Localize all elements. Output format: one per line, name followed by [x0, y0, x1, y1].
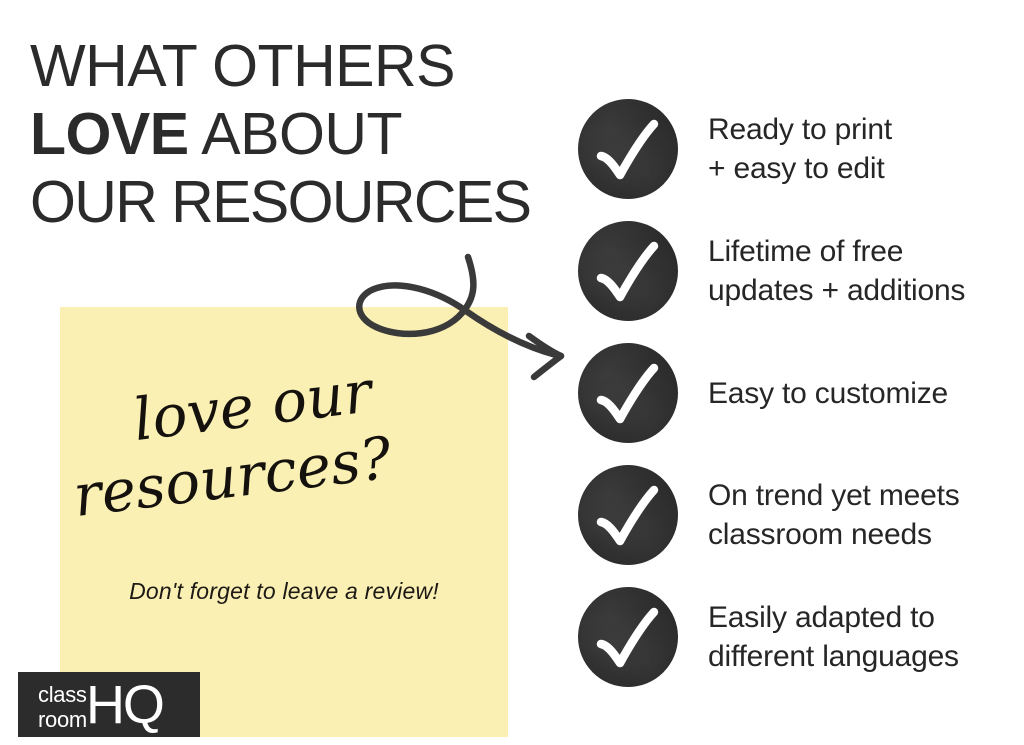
list-item-line-1: On trend yet meets [708, 476, 960, 515]
checkmark-icon [578, 99, 678, 199]
curly-arrow-icon [330, 235, 590, 395]
logo-lockup: class room HQ [38, 679, 163, 732]
list-item-line-1: Ready to print [708, 110, 892, 149]
list-item-label: Easy to customize [708, 374, 948, 413]
list-item-label: Ready to print + easy to edit [708, 110, 892, 188]
checkmark-icon [578, 221, 678, 321]
list-item-line-2: classroom needs [708, 515, 960, 554]
list-item: Easily adapted to different languages [578, 576, 1018, 698]
headline-line-2: LOVE ABOUT [30, 100, 570, 168]
logo-word-top: class [38, 682, 87, 707]
list-item: Ready to print + easy to edit [578, 88, 1018, 210]
list-item-label: Lifetime of free updates + additions [708, 232, 965, 310]
checkmark-icon [578, 343, 678, 443]
logo-hq-mark: HQ [86, 679, 163, 731]
list-item-line-2: different languages [708, 637, 959, 676]
list-item-label: Easily adapted to different languages [708, 598, 959, 676]
logo-word-bottom: room [38, 707, 87, 732]
page-title: WHAT OTHERS LOVE ABOUT OUR RESOURCES [30, 32, 570, 236]
headline-line-2-rest: ABOUT [189, 101, 402, 167]
list-item-line-1: Easy to customize [708, 374, 948, 413]
review-tagline: Don't forget to leave a review! [60, 578, 508, 605]
headline-love-emphasis: LOVE [30, 101, 189, 167]
list-item: Lifetime of free updates + additions [578, 210, 1018, 332]
promo-graphic: WHAT OTHERS LOVE ABOUT OUR RESOURCES lov… [0, 0, 1024, 745]
brand-logo: class room HQ [18, 672, 200, 737]
headline-line-3: OUR RESOURCES [30, 168, 570, 236]
list-item-line-1: Easily adapted to [708, 598, 959, 637]
headline-line-1: WHAT OTHERS [30, 32, 570, 100]
checkmark-icon [578, 587, 678, 687]
benefits-list: Ready to print + easy to edit Lifetime o… [578, 88, 1018, 698]
logo-wordmark: class room [38, 679, 87, 732]
list-item-line-1: Lifetime of free [708, 232, 965, 271]
list-item: Easy to customize [578, 332, 1018, 454]
checkmark-icon [578, 465, 678, 565]
list-item-line-2: + easy to edit [708, 149, 892, 188]
list-item: On trend yet meets classroom needs [578, 454, 1018, 576]
list-item-label: On trend yet meets classroom needs [708, 476, 960, 554]
list-item-line-2: updates + additions [708, 271, 965, 310]
